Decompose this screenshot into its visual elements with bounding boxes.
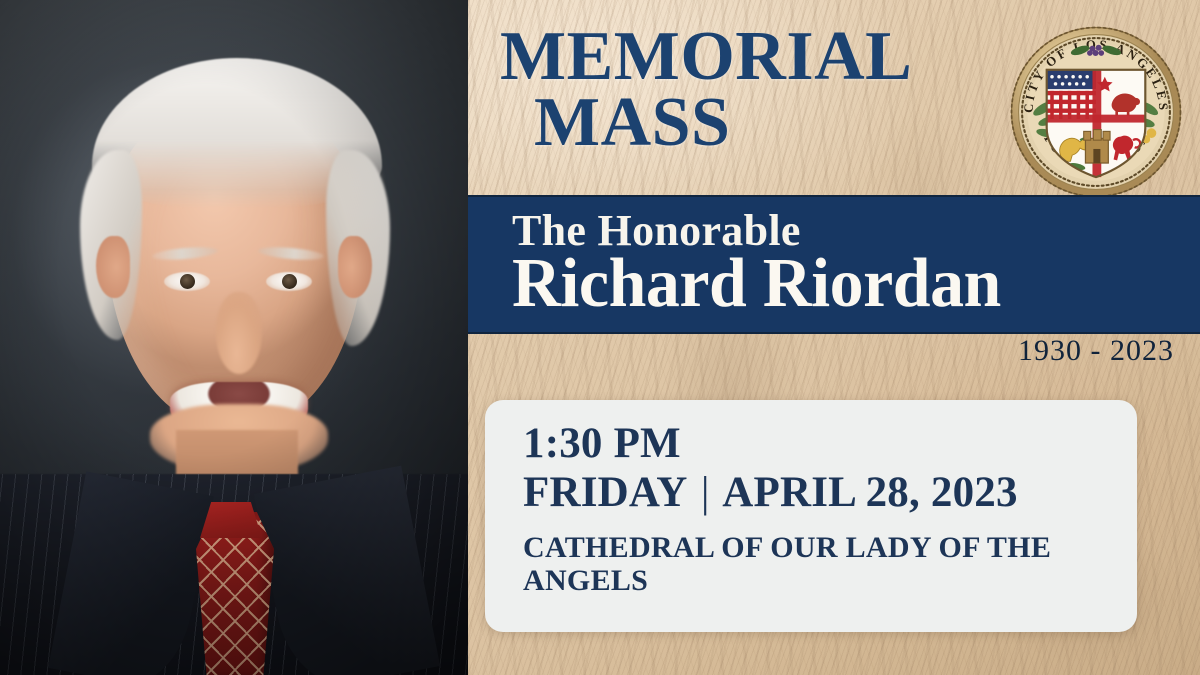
city-of-los-angeles-seal-icon: CITY OF LOS ANGELES FOUNDED 1781 <box>1008 24 1184 200</box>
event-venue: CATHEDRAL OF OUR LADY OF THE ANGELS <box>523 531 1093 597</box>
portrait-vignette <box>0 0 468 675</box>
portrait-photo <box>0 0 468 675</box>
event-details-card: 1:30 PM FRIDAY | APRIL 28, 2023 CATHEDRA… <box>485 400 1137 632</box>
event-date: APRIL 28, 2023 <box>722 469 1017 516</box>
honoree-banner: The Honorable Richard Riordan <box>468 195 1200 334</box>
date-separator: | <box>697 469 714 516</box>
memorial-mass-poster: MEMORIAL MASS CITY OF LOS ANGELES <box>0 0 1200 675</box>
event-time: 1:30 PM <box>523 422 1137 466</box>
life-years: 1930 - 2023 <box>468 334 1200 368</box>
event-day: FRIDAY <box>523 469 686 516</box>
event-date-line: FRIDAY | APRIL 28, 2023 <box>523 470 1137 516</box>
honoree-name: Richard Riordan <box>512 249 1001 319</box>
headline-line-2: MASS <box>500 90 1020 156</box>
page-title: MEMORIAL MASS <box>500 24 1020 156</box>
